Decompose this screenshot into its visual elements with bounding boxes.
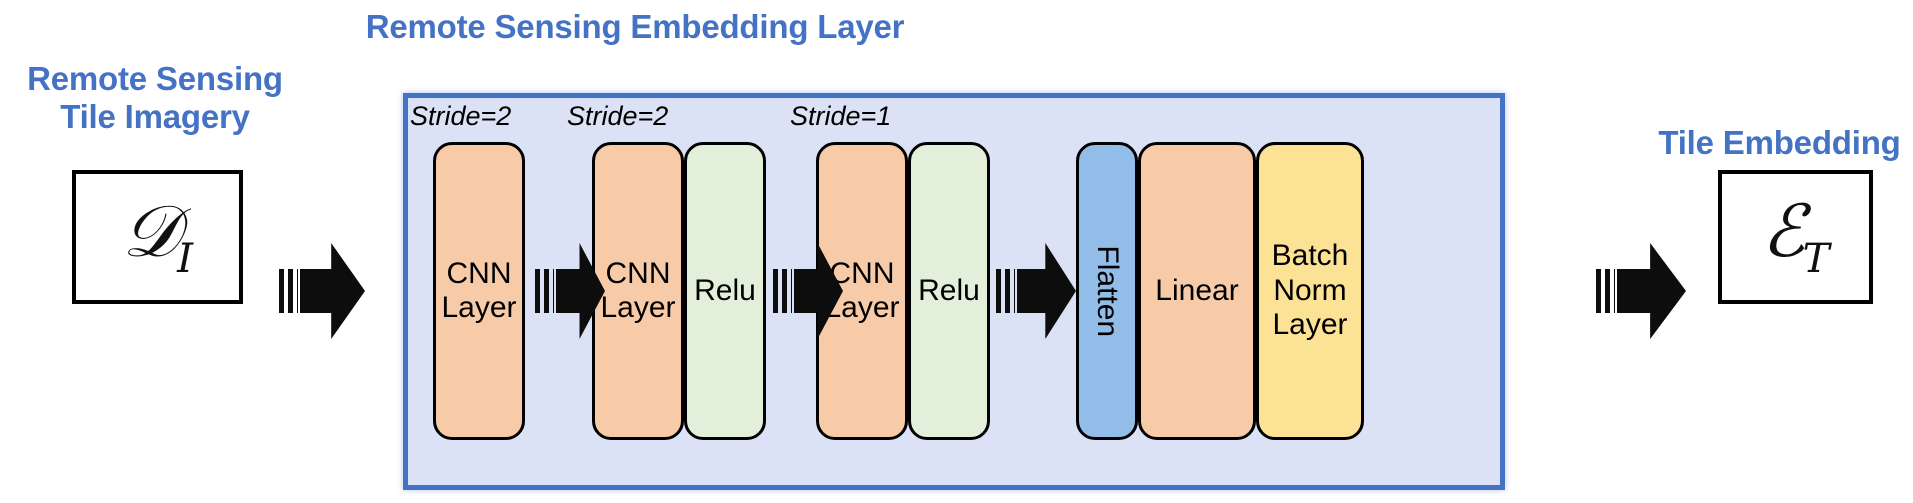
output-tile-embedding-box: ℰT	[1718, 170, 1873, 304]
output-symbol-subscript: T	[1803, 235, 1830, 282]
output-caption: Tile Embedding	[1646, 124, 1913, 162]
block-label-cnn-layer-1: CNN Layer	[441, 257, 516, 326]
arrow-head-icon	[1017, 243, 1076, 339]
stride-label-1: Stride=2	[410, 101, 511, 132]
block-label-linear: Linear	[1155, 274, 1238, 309]
arrow-head-icon	[300, 243, 365, 339]
stride-label-2: Stride=2	[567, 101, 668, 132]
arrow-embedding-to-output	[1596, 243, 1686, 339]
block-label-relu-1: Relu	[694, 274, 756, 309]
arrow-tail-stripes	[1596, 269, 1615, 313]
block-flatten[interactable]: Flatten	[1076, 142, 1138, 440]
block-batch-norm[interactable]: Batch Norm Layer	[1256, 142, 1364, 440]
arrow-input-to-embedding	[279, 243, 365, 339]
arrow-head-icon	[794, 243, 843, 339]
block-cnn-layer-1[interactable]: CNN Layer	[433, 142, 525, 440]
block-relu-1[interactable]: Relu	[684, 142, 766, 440]
arrow-tail-stripes	[773, 269, 792, 313]
block-label-batch-norm: Batch Norm Layer	[1272, 239, 1349, 343]
arrow-relu2-to-flatten	[996, 243, 1076, 339]
arrow-tail-stripes	[996, 269, 1015, 313]
embedding-layer-title: Remote Sensing Embedding Layer	[330, 8, 940, 46]
input-tile-imagery-box: 𝒟I	[72, 170, 243, 304]
output-symbol-glyph: ℰT	[1761, 195, 1829, 279]
block-label-relu-2: Relu	[918, 274, 980, 309]
diagram-canvas: Remote Sensing Tile Imagery 𝒟I Remote Se…	[0, 0, 1913, 503]
input-symbol-glyph: 𝒟I	[122, 195, 193, 279]
arrow-relu1-to-cnn3	[773, 243, 843, 339]
block-cnn-layer-2[interactable]: CNN Layer	[592, 142, 684, 440]
input-caption: Remote Sensing Tile Imagery	[10, 60, 300, 137]
arrow-tail-stripes	[535, 269, 554, 313]
arrow-head-icon	[556, 243, 605, 339]
block-linear[interactable]: Linear	[1138, 142, 1256, 440]
block-label-flatten: Flatten	[1090, 245, 1125, 337]
arrow-tail-stripes	[279, 269, 298, 313]
input-symbol-subscript: I	[177, 235, 193, 282]
block-label-cnn-layer-2: CNN Layer	[600, 257, 675, 326]
stride-label-3: Stride=1	[790, 101, 891, 132]
block-relu-2[interactable]: Relu	[908, 142, 990, 440]
arrow-cnn1-to-cnn2	[535, 243, 605, 339]
arrow-head-icon	[1617, 243, 1686, 339]
